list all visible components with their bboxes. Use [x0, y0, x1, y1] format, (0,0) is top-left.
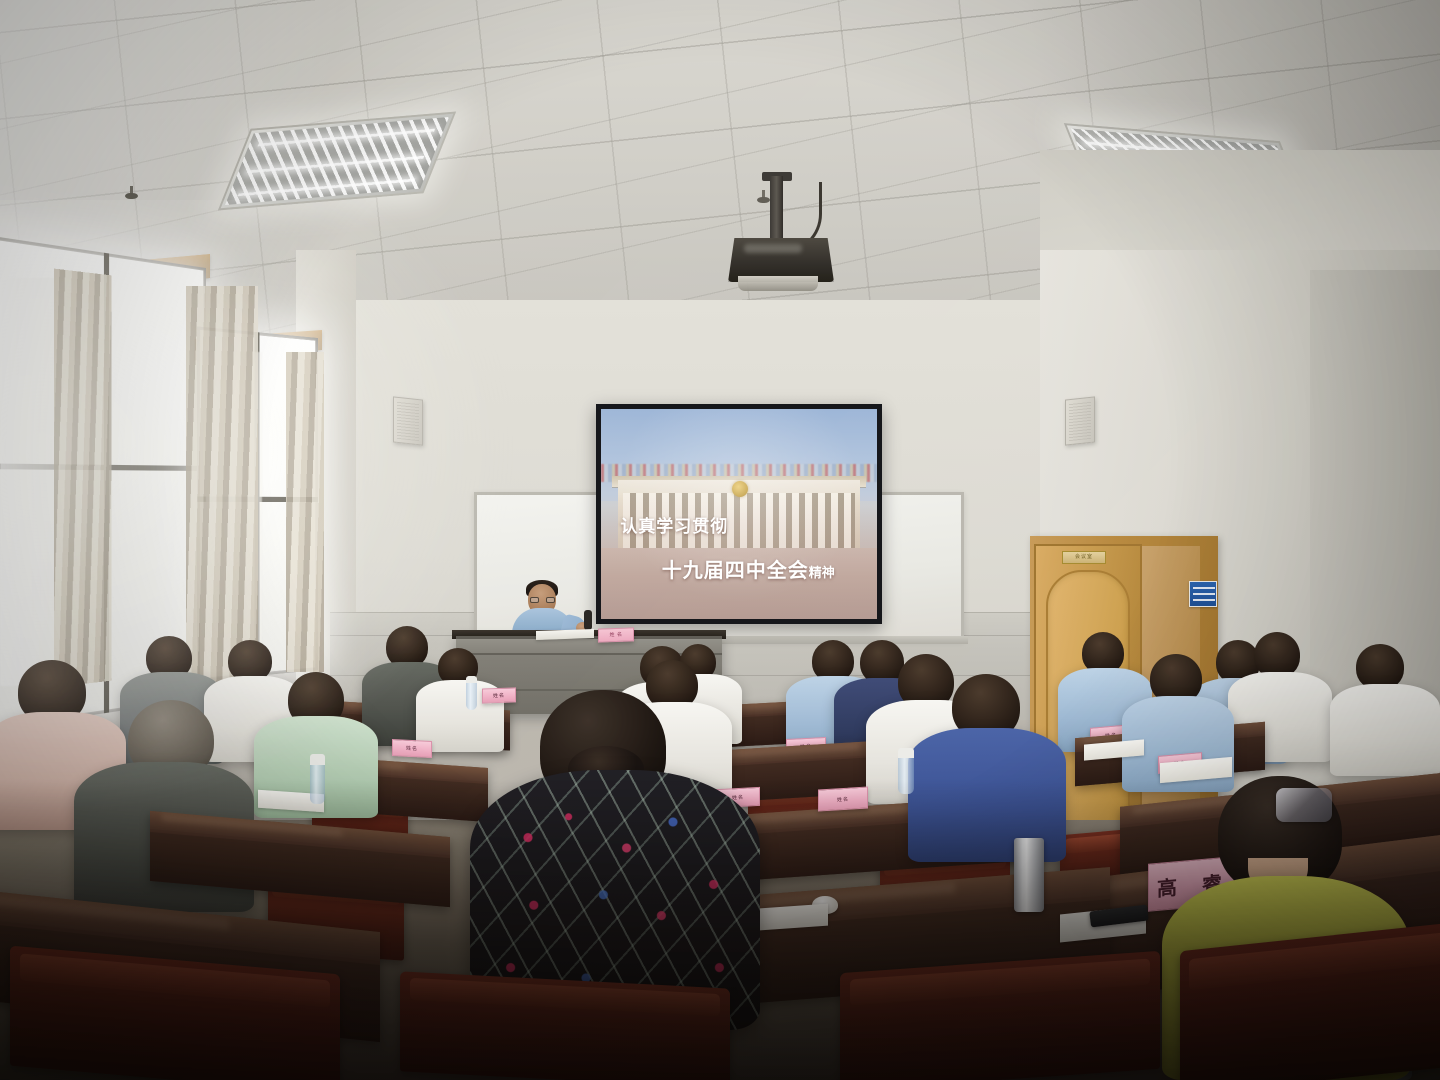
- curtain[interactable]: [286, 352, 324, 672]
- door-plate-text: 会议室: [1063, 552, 1105, 563]
- wall-speaker: [1065, 396, 1095, 445]
- door-room-plate: 会议室: [1062, 551, 1106, 564]
- slide-headline-line2: 十九届四中全会精神: [662, 554, 835, 583]
- thermos: [1014, 838, 1044, 912]
- name-card: 姓名: [392, 739, 432, 758]
- slide-headline-line1: 认真学习贯彻: [620, 512, 728, 537]
- conference-room-photo: 认真学习贯彻 十九届四中全会精神 会议室 姓 名: [0, 0, 1440, 1080]
- presenter-name-card-text: 姓 名: [609, 629, 622, 641]
- chair-foreground-center-left[interactable]: [400, 971, 730, 1080]
- projected-slide: 认真学习贯彻 十九届四中全会精神: [601, 409, 877, 619]
- water-bottle: [310, 754, 325, 804]
- attendee-body: [1330, 684, 1440, 776]
- wall-speaker: [393, 396, 423, 445]
- projector-lens: [738, 276, 818, 291]
- wall-sign: [1189, 581, 1217, 607]
- name-card: 姓名: [482, 687, 516, 703]
- curtain[interactable]: [186, 286, 258, 686]
- projection-screen: 认真学习贯彻 十九届四中全会精神: [596, 404, 882, 624]
- name-card-text: 姓名: [493, 692, 505, 699]
- name-card-text: 姓名: [406, 745, 418, 753]
- curtain[interactable]: [54, 269, 112, 688]
- chair-foreground-center-right[interactable]: [840, 951, 1160, 1080]
- name-card: 姓名: [818, 786, 868, 811]
- sprinkler-icon: [125, 186, 138, 202]
- water-bottle: [898, 748, 914, 794]
- slide-headline-suffix: 精神: [809, 566, 835, 581]
- name-card-text: 姓名: [837, 795, 849, 803]
- projector: [726, 176, 836, 298]
- slide-headline-main: 十九届四中全会: [662, 558, 809, 582]
- sheer-curtain: [0, 278, 60, 686]
- glasses-icon: [530, 597, 555, 603]
- presenter-name-card: 姓 名: [598, 627, 634, 642]
- hair-clip: [1276, 788, 1332, 822]
- water-bottle: [466, 676, 477, 710]
- microphone-icon: [584, 610, 592, 630]
